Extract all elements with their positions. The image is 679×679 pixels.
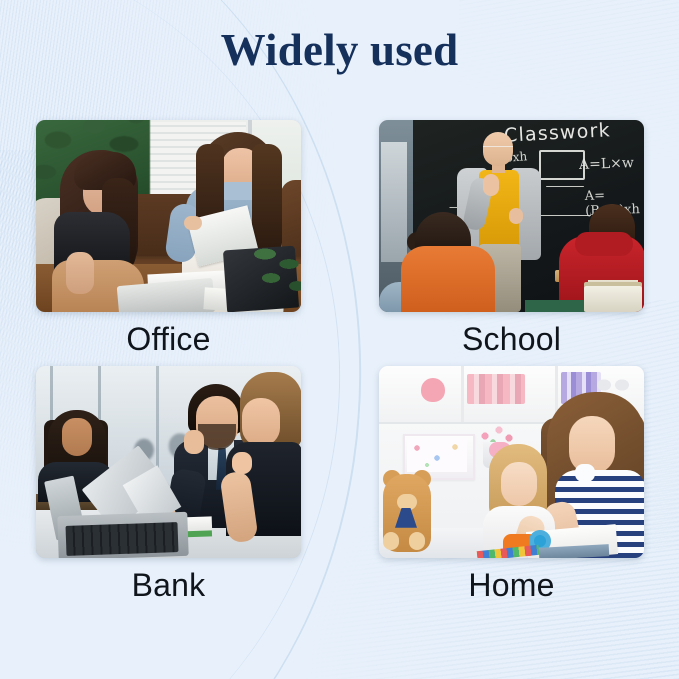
school-book-stack: [584, 286, 642, 312]
chalk-formula-rectangle-area: A=L×w: [579, 155, 634, 173]
home-picture-frame-art: [407, 438, 467, 472]
use-case-card-office: Office: [36, 120, 301, 358]
school-wall-panel: [381, 142, 407, 262]
bank-man-hand-to-chin: [184, 430, 204, 454]
home-scene: [379, 366, 644, 558]
use-case-card-school: Classwork bxh A=L×w A=(B+b)xh: [379, 120, 644, 358]
use-case-card-bank: Bank: [36, 366, 301, 604]
use-case-card-home: Home: [379, 366, 644, 604]
office-woman-left-arm: [66, 252, 94, 294]
home-girl-face: [501, 462, 537, 506]
bank-laptop-keyboard: [66, 522, 179, 556]
bank-woman-right-face: [242, 398, 280, 446]
glasses-icon: [483, 146, 513, 153]
school-photo: Classwork bxh A=L×w A=(B+b)xh: [379, 120, 644, 312]
bank-scene: [36, 366, 301, 558]
school-teacher-hand-lower: [509, 208, 523, 224]
office-photo: [36, 120, 301, 312]
bank-photo: [36, 366, 301, 558]
bank-woman-left-face: [62, 418, 92, 456]
home-shelf-books-pink: [467, 374, 525, 404]
home-photo: [379, 366, 644, 558]
home-teddy-bear-paw-right: [409, 532, 425, 550]
chalk-trapezoid-shape: [539, 186, 591, 216]
bank-woman-right-hand: [232, 452, 252, 474]
home-teddy-bear-paw-left: [383, 532, 399, 550]
home-teddy-bear-snout: [397, 494, 417, 510]
office-scene: [36, 120, 301, 312]
school-scene: Classwork bxh A=L×w A=(B+b)xh: [379, 120, 644, 312]
home-decor-apple: [421, 378, 445, 402]
home-shelf-divider-left: [461, 366, 464, 422]
school-chair-back: [525, 300, 585, 312]
page-title: Widely used: [0, 26, 679, 76]
use-case-grid: Office Classwork bxh A=L×w A=(B+b)xh: [36, 120, 644, 604]
card-caption-school: School: [379, 312, 644, 358]
office-woman-right-hand: [184, 216, 202, 230]
card-caption-home: Home: [379, 558, 644, 604]
office-plant-foreground: [249, 240, 301, 296]
school-student-right-hood: [575, 232, 633, 256]
card-caption-bank: Bank: [36, 558, 301, 604]
home-mother-shoulder-strap: [575, 464, 595, 482]
school-student-left-orange-top: [401, 246, 495, 312]
card-caption-office: Office: [36, 312, 301, 358]
school-teacher-hand-raised: [483, 174, 499, 196]
promo-image-canvas: Widely used: [0, 0, 679, 679]
